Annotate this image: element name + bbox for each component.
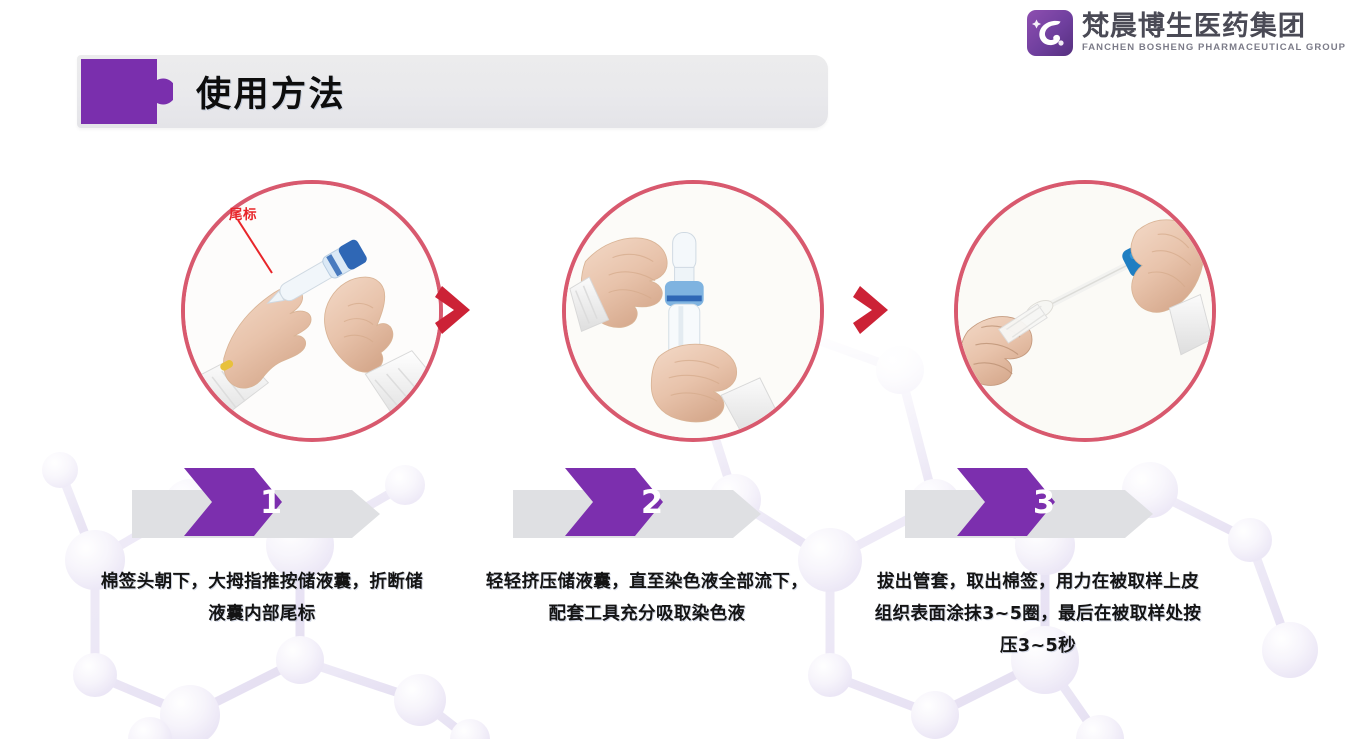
step-3 (895, 180, 1275, 442)
step-3-caption: 拔出管套，取出棉签，用力在被取样上皮组织表面涂抹3~5圈，最后在被取样处按压3~… (873, 566, 1203, 662)
step-2-number-banner: 2 (503, 462, 793, 542)
step-3-photo (954, 180, 1216, 442)
step-2-photo-illustration (566, 184, 820, 438)
company-logo: 梵晨博生医药集团 FANCHEN BOSHENG PHARMACEUTICAL … (1027, 10, 1346, 56)
step-2-chevron-shape (503, 462, 793, 542)
step-2 (503, 180, 883, 442)
annotation-label-tail-marker: 尾标 (229, 203, 257, 223)
step-1-chevron-shape (122, 462, 412, 542)
step-1-number-banner: 1 (122, 462, 412, 542)
step-3-chevron-shape (895, 462, 1185, 542)
step-3-photo-illustration (958, 184, 1212, 438)
step-3-number-banner: 3 (895, 462, 1185, 542)
steps-container: 尾标 (0, 0, 1364, 739)
logo-company-cn: 梵晨博生医药集团 (1082, 12, 1346, 40)
step-1-caption: 棉签头朝下，大拇指推按储液囊，折断储液囊内部尾标 (97, 566, 427, 630)
annotation-leader-line (210, 215, 320, 295)
logo-company-en: FANCHEN BOSHENG PHARMACEUTICAL GROUP (1082, 42, 1346, 54)
step-2-caption: 轻轻挤压储液囊，直至染色液全部流下，配套工具充分吸取染色液 (482, 566, 812, 630)
slide-root: 梵晨博生医药集团 FANCHEN BOSHENG PHARMACEUTICAL … (0, 0, 1364, 739)
chevron-right-icon-2 (852, 282, 898, 338)
leaf-swoosh-logo-mark (1027, 10, 1073, 56)
logo-text-block: 梵晨博生医药集团 FANCHEN BOSHENG PHARMACEUTICAL … (1082, 12, 1346, 55)
chevron-right-icon-1 (434, 282, 480, 338)
logo-glyph (1027, 10, 1073, 56)
step-2-photo (562, 180, 824, 442)
